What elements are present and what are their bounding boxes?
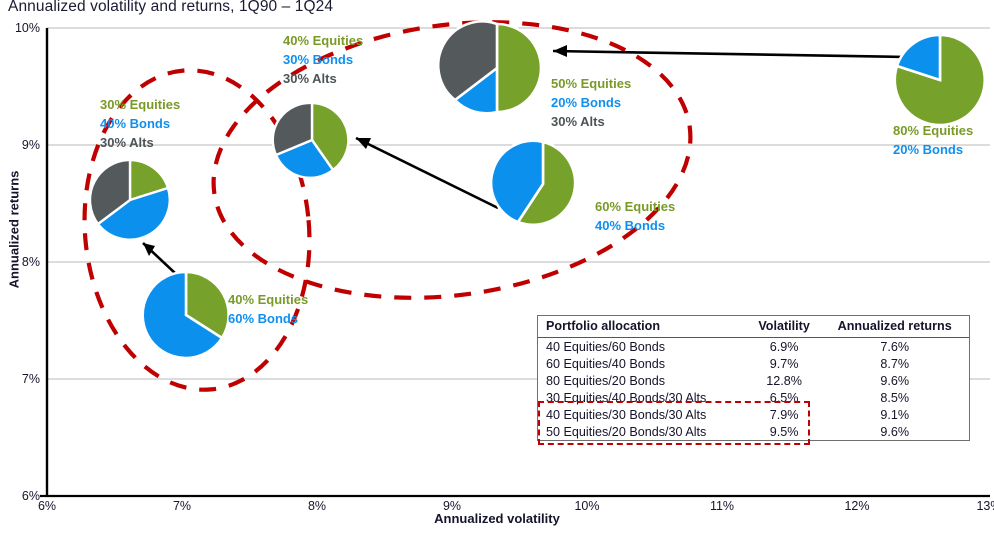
cell-volatility: 12.8%	[748, 372, 821, 389]
cell-volatility: 9.5%	[748, 423, 821, 440]
pie-marker-60-40[interactable]	[491, 141, 575, 225]
table-row: 80 Equities/20 Bonds 12.8% 9.6%	[538, 372, 969, 389]
pie-label-equities: 60% Equities	[595, 198, 675, 217]
pie-label-30-40-30: 30% Equities 40% Bonds 30% Alts	[100, 96, 180, 153]
pie-label-80-20: 80% Equities 20% Bonds	[893, 122, 973, 160]
cell-allocation: 40 Equities/30 Bonds/30 Alts	[538, 406, 748, 423]
pie-label-alts: 30% Alts	[283, 70, 363, 89]
pie-label-40-30-30: 40% Equities 30% Bonds 30% Alts	[283, 32, 363, 89]
cell-allocation: 40 Equities/60 Bonds	[538, 338, 748, 356]
cell-returns: 9.6%	[820, 372, 969, 389]
cell-returns: 7.6%	[820, 338, 969, 356]
pie-label-50-20-30: 50% Equities 20% Bonds 30% Alts	[551, 75, 631, 132]
cell-returns: 9.6%	[820, 423, 969, 440]
pie-label-equities: 80% Equities	[893, 122, 973, 141]
pie-label-bonds: 20% Bonds	[551, 94, 631, 113]
cell-allocation: 50 Equities/20 Bonds/30 Alts	[538, 423, 748, 440]
allocation-table: Portfolio allocation Volatility Annualiz…	[537, 315, 970, 441]
pie-label-equities: 40% Equities	[283, 32, 363, 51]
column-header-returns: Annualized returns	[820, 316, 969, 338]
cell-allocation: 60 Equities/40 Bonds	[538, 355, 748, 372]
pie-label-60-40: 60% Equities 40% Bonds	[595, 198, 675, 236]
table-row: 40 Equities/60 Bonds 6.9% 7.6%	[538, 338, 969, 356]
arrow-to-40-30-30	[356, 138, 498, 208]
table-row: 50 Equities/20 Bonds/30 Alts 9.5% 9.6%	[538, 423, 969, 440]
column-header-volatility: Volatility	[748, 316, 821, 338]
pie-label-bonds: 20% Bonds	[893, 141, 973, 160]
cell-volatility: 9.7%	[748, 355, 821, 372]
arrow-to-50-20-30	[553, 45, 906, 57]
cell-allocation: 30 Equities/40 Bonds/30 Alts	[538, 389, 748, 406]
pie-marker-80-20[interactable]	[895, 35, 985, 125]
cell-returns: 9.1%	[820, 406, 969, 423]
pie-label-bonds: 60% Bonds	[228, 310, 308, 329]
column-header-allocation: Portfolio allocation	[538, 316, 748, 338]
pie-marker-50-20-30[interactable]	[438, 21, 541, 113]
pie-label-equities: 40% Equities	[228, 291, 308, 310]
table-row: 60 Equities/40 Bonds 9.7% 8.7%	[538, 355, 969, 372]
cell-volatility: 6.9%	[748, 338, 821, 356]
pie-label-bonds: 30% Bonds	[283, 51, 363, 70]
pie-label-equities: 50% Equities	[551, 75, 631, 94]
cell-allocation: 80 Equities/20 Bonds	[538, 372, 748, 389]
pie-label-bonds: 40% Bonds	[100, 115, 180, 134]
data-layer	[0, 0, 994, 537]
pie-label-equities: 30% Equities	[100, 96, 180, 115]
pie-label-bonds: 40% Bonds	[595, 217, 675, 236]
pie-marker-40-30-30[interactable]	[273, 103, 349, 178]
table-header-row: Portfolio allocation Volatility Annualiz…	[538, 316, 969, 338]
table-row: 30 Equities/40 Bonds/30 Alts 6.5% 8.5%	[538, 389, 969, 406]
pie-label-alts: 30% Alts	[100, 134, 180, 153]
cell-volatility: 6.5%	[748, 389, 821, 406]
cell-returns: 8.5%	[820, 389, 969, 406]
pie-label-alts: 30% Alts	[551, 113, 631, 132]
pie-marker-30-40-30[interactable]	[90, 160, 170, 240]
pie-label-40-60: 40% Equities 60% Bonds	[228, 291, 308, 329]
chart-canvas: Annualized volatility and returns, 1Q90 …	[0, 0, 994, 537]
cell-volatility: 7.9%	[748, 406, 821, 423]
cell-returns: 8.7%	[820, 355, 969, 372]
pie-marker-40-60[interactable]	[143, 272, 229, 358]
table-row: 40 Equities/30 Bonds/30 Alts 7.9% 9.1%	[538, 406, 969, 423]
